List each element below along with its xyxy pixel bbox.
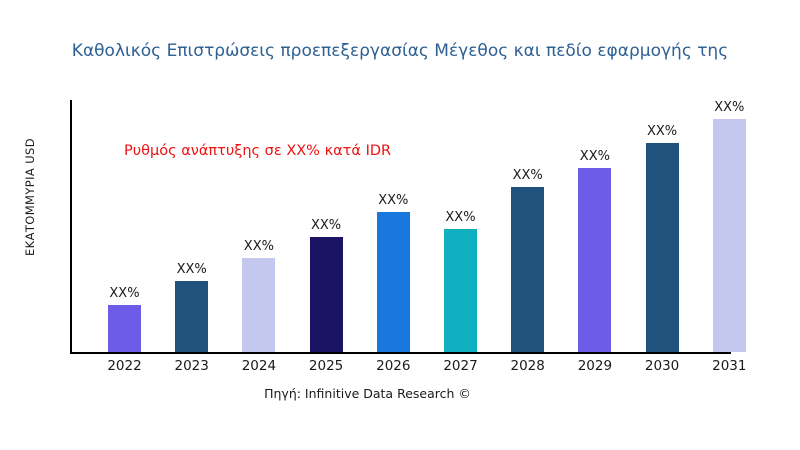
x-axis-tick-label: 2028 — [497, 358, 558, 374]
bar-group: XX% — [310, 92, 343, 352]
bar-value-label: XX% — [94, 286, 155, 301]
bar-group: XX% — [108, 92, 141, 352]
page-title: Καθολικός Επιστρώσεις προεπεξεργασίας Μέ… — [0, 40, 800, 62]
x-axis-tick-label: 2031 — [699, 358, 760, 374]
bar[interactable] — [511, 187, 544, 352]
bar[interactable] — [377, 212, 410, 352]
bar[interactable] — [310, 237, 343, 352]
bar[interactable] — [444, 229, 477, 352]
x-axis-line — [70, 352, 731, 354]
source-note: Πηγή: Infinitive Data Research © — [0, 386, 735, 401]
x-axis-tick-label: 2022 — [94, 358, 155, 374]
x-axis-tick-label: 2030 — [632, 358, 693, 374]
bar-group: XX% — [175, 92, 208, 352]
bar-value-label: XX% — [497, 168, 558, 183]
x-axis-tick-label: 2025 — [296, 358, 357, 374]
x-axis-tick-label: 2023 — [161, 358, 222, 374]
bar[interactable] — [646, 143, 679, 352]
bar[interactable] — [242, 258, 275, 352]
x-axis-tick-label: 2029 — [564, 358, 625, 374]
x-axis-tick-label: 2027 — [430, 358, 491, 374]
bar-group: XX% — [242, 92, 275, 352]
y-axis-title: ΕΚΑΤΟΜΜΥΡΙΑ USD — [23, 97, 37, 297]
x-axis-tick-label: 2024 — [228, 358, 289, 374]
bar-group: XX% — [646, 92, 679, 352]
bar-group: XX% — [511, 92, 544, 352]
bar[interactable] — [175, 281, 208, 352]
bar[interactable] — [713, 119, 746, 352]
bar-value-label: XX% — [430, 210, 491, 225]
bar-value-label: XX% — [632, 124, 693, 139]
bar-group: XX% — [377, 92, 410, 352]
x-axis-tick-label: 2026 — [363, 358, 424, 374]
bar[interactable] — [578, 168, 611, 352]
bar-value-label: XX% — [564, 149, 625, 164]
bar-value-label: XX% — [363, 193, 424, 208]
y-axis-line — [70, 100, 72, 352]
bar-value-label: XX% — [296, 218, 357, 233]
bar-group: XX% — [578, 92, 611, 352]
bar-value-label: XX% — [699, 100, 760, 115]
bar-group: XX% — [713, 92, 746, 352]
chart-canvas: Καθολικός Επιστρώσεις προεπεξεργασίας Μέ… — [0, 0, 800, 450]
bar[interactable] — [108, 305, 141, 352]
bar-value-label: XX% — [161, 262, 222, 277]
bar-value-label: XX% — [228, 239, 289, 254]
bar-group: XX% — [444, 92, 477, 352]
